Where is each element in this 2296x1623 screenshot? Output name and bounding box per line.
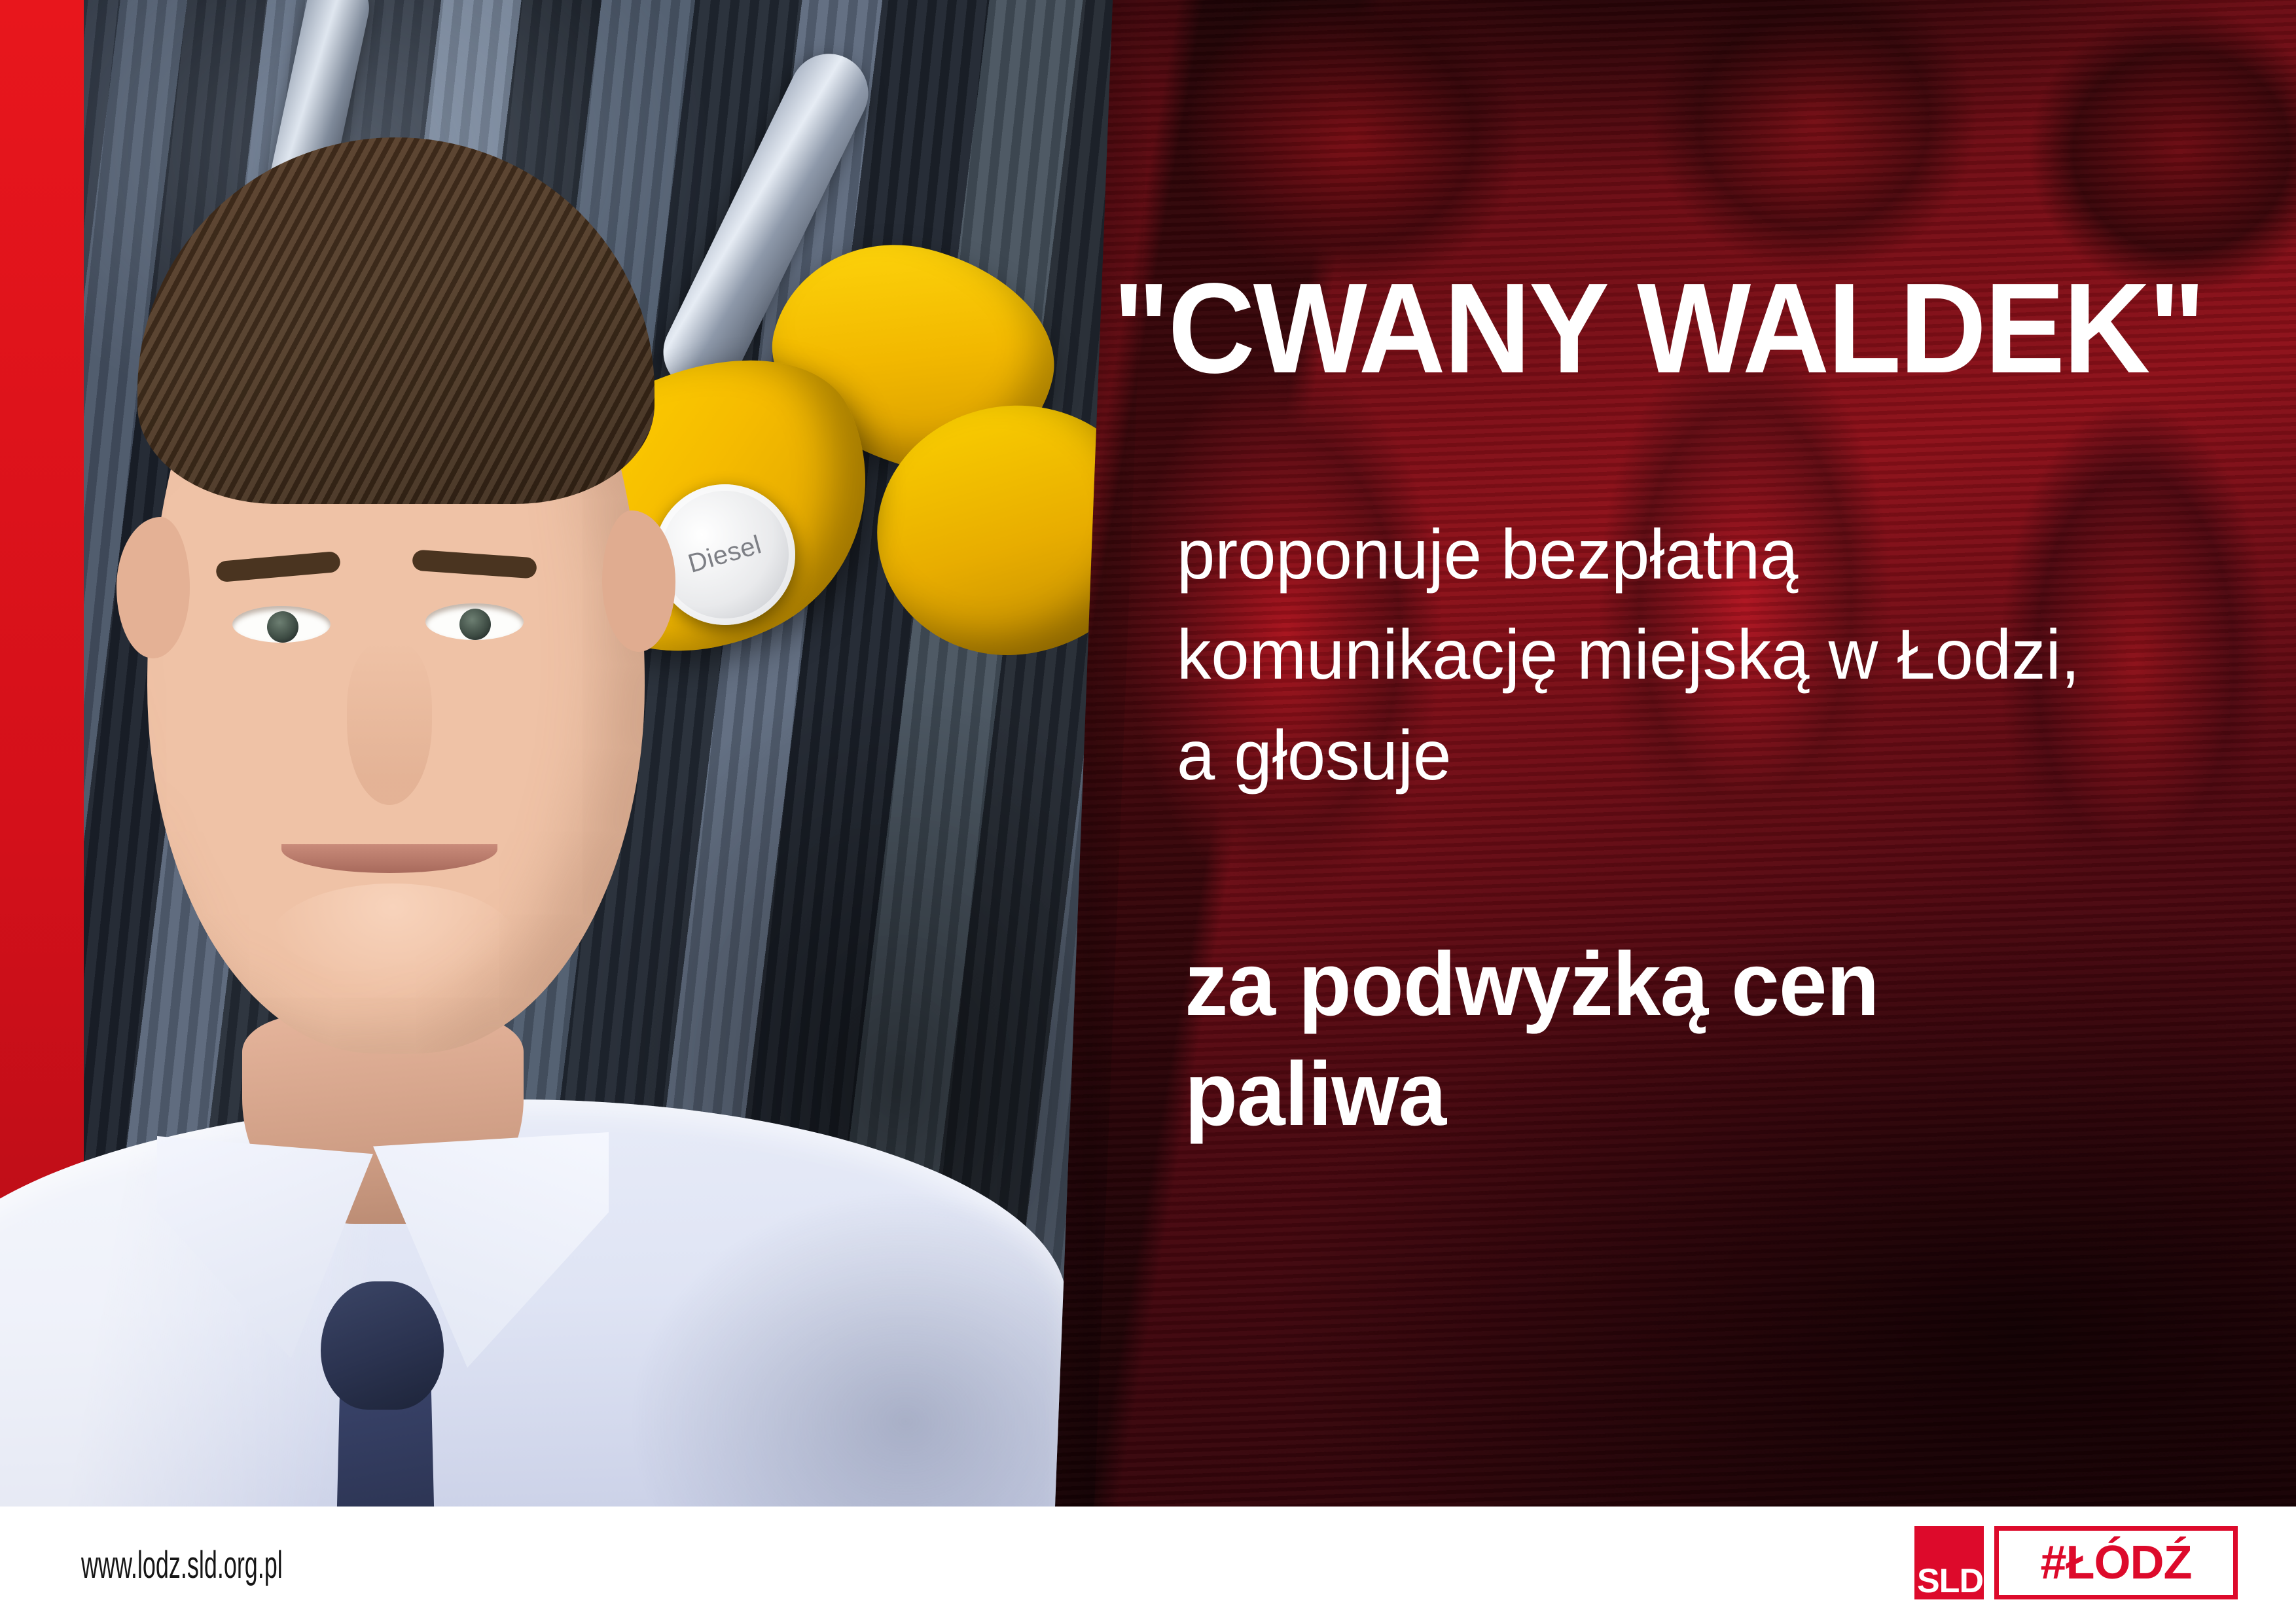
body-line: a głosuje	[1177, 705, 2256, 805]
portrait-iris-right	[459, 609, 491, 640]
portrait-ear-right	[602, 510, 675, 652]
tagline-line: za podwyżką cen	[1185, 929, 2253, 1039]
poster-body-text: proponuje bezpłatną komunikację miejską …	[1177, 504, 2256, 805]
portrait-nose	[347, 641, 432, 805]
portrait-ear-left	[117, 517, 190, 658]
portrait-chin	[268, 883, 517, 1001]
sld-logo-label: SLD	[1917, 1564, 1981, 1598]
website-url[interactable]: www.lodz.sld.org.pl	[81, 1543, 283, 1587]
body-line: komunikację miejską w Łodzi,	[1177, 604, 2256, 704]
poster-copy: "CWANY WALDEK" proponuje bezpłatną komun…	[1113, 0, 2296, 1507]
candidate-portrait	[7, 98, 1028, 1507]
portrait-iris-left	[267, 611, 298, 643]
poster-artwork: Diesel	[0, 0, 2296, 1507]
body-line: proponuje bezpłatną	[1177, 504, 2256, 604]
sld-lodz-logo: SLD #ŁÓDŹ	[1914, 1526, 2238, 1599]
poster-headline: "CWANY WALDEK"	[1113, 264, 2214, 393]
sld-logo-box: SLD	[1914, 1526, 1984, 1599]
portrait-tie-knot	[321, 1281, 444, 1410]
poster-footer: www.lodz.sld.org.pl SLD #ŁÓDŹ	[0, 1507, 2296, 1623]
portrait-hair	[137, 137, 655, 504]
campaign-poster: Diesel	[0, 0, 2296, 1623]
lodz-logo-box: #ŁÓDŹ	[1994, 1526, 2238, 1599]
lodz-logo-label: #ŁÓDŹ	[2040, 1539, 2191, 1586]
left-photo-panel: Diesel	[0, 0, 1152, 1507]
tagline-line: paliwa	[1185, 1039, 2253, 1149]
poster-tagline: za podwyżką cen paliwa	[1185, 929, 2253, 1150]
